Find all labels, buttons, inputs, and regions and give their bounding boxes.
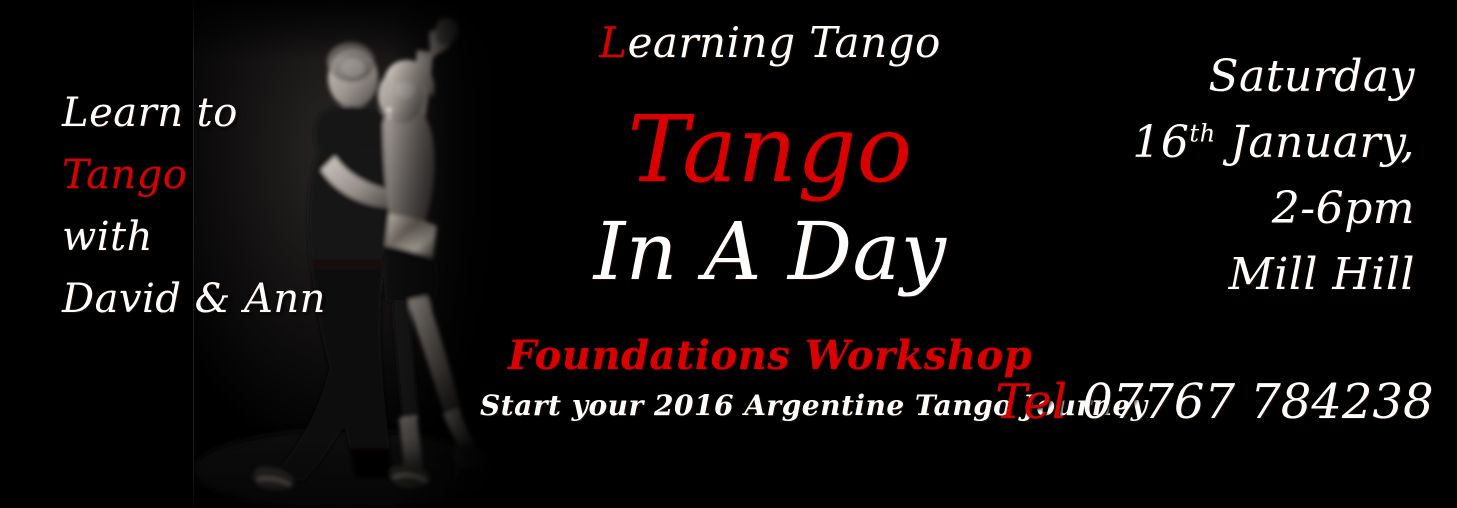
center-text-column: Learning Tango Tango In A Day Foundation… <box>480 14 1060 426</box>
eyebrow-rest: earning Tango <box>628 18 941 67</box>
headline-tango: Tango <box>480 90 1060 210</box>
tel-number: 07767 784238 <box>1067 374 1433 430</box>
left-line-learn-to: Learn to <box>62 82 362 144</box>
photo-bottom-fade <box>193 438 511 508</box>
tagline-start-journey: Start your 2016 Argentine Tango Journey <box>480 386 1060 426</box>
left-text-column: Learn to Tango with David & Ann <box>62 82 362 330</box>
subhead-foundations-workshop: Foundations Workshop <box>480 328 1060 384</box>
left-line-instructors: David & Ann <box>62 268 362 330</box>
tango-promo-banner: Learn to Tango with David & Ann Learning… <box>0 0 1457 508</box>
event-date: 16th January, <box>995 110 1415 176</box>
event-venue: Mill Hill <box>995 242 1415 308</box>
event-day: Saturday <box>995 44 1415 110</box>
left-line-with: with <box>62 206 362 268</box>
tel-label: Tel <box>995 374 1067 430</box>
left-line-tango: Tango <box>62 144 362 206</box>
event-time: 2-6pm <box>995 176 1415 242</box>
contact-telephone[interactable]: Tel 07767 784238 <box>995 372 1415 432</box>
event-date-number: 16 <box>1132 117 1189 168</box>
eyebrow-initial: L <box>599 18 627 67</box>
eyebrow-learning-tango: Learning Tango <box>480 14 1060 72</box>
event-date-month: January, <box>1216 117 1415 168</box>
right-details-column: Saturday 16th January, 2-6pm Mill Hill <box>995 44 1415 308</box>
event-date-ordinal: th <box>1189 119 1215 147</box>
headline-in-a-day: In A Day <box>480 204 1060 300</box>
